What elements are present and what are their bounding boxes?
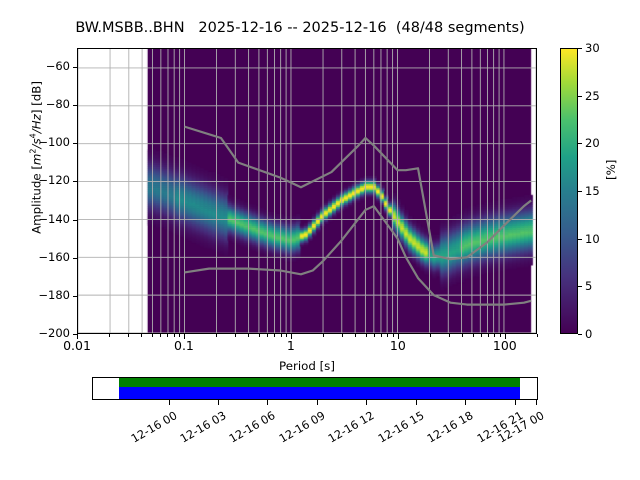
x-tick-minor [109,334,110,337]
timeline-tick-mark [218,400,219,405]
timeline-tick-label: 12-16 15 [370,409,427,449]
colorbar[interactable] [560,48,578,334]
colorbar-tick-label: 10 [585,232,600,246]
timeline-tick-label: 12-16 09 [271,409,328,449]
x-tick-minor [462,334,463,337]
x-tick-minor [355,334,356,337]
colorbar-tick-mark [578,286,582,287]
timeline-tick-mark [366,400,367,405]
page-title: BW.MSBB..BHN 2025-12-16 -- 2025-12-16 (4… [0,20,600,36]
y-tick-mark [73,67,77,68]
timeline-tick-label: 12-16 12 [320,409,377,449]
colorbar-tick-mark [578,143,582,144]
x-tick-minor [152,334,153,337]
figure-canvas: BW.MSBB..BHN 2025-12-16 -- 2025-12-16 (4… [0,0,640,480]
x-tick-minor [160,334,161,337]
colorbar-tick-label: 20 [585,136,600,150]
colorbar-tick-mark [578,239,582,240]
x-tick-label: 0.01 [63,338,91,353]
colorbar-tick-label: 5 [585,279,592,293]
x-tick-minor [481,334,482,337]
y-tick-mark [73,296,77,297]
colorbar-tick-label: 30 [585,41,600,55]
x-tick-minor [473,334,474,337]
x-tick-minor [500,334,501,337]
ppsd-heatmap [78,49,536,333]
y-tick-label: −140 [20,212,70,226]
colorbar-tick-mark [578,334,582,335]
colorbar-tick-label: 15 [585,184,600,198]
timeline-tick-mark [169,400,170,405]
colorbar-tick-mark [578,191,582,192]
y-tick-label: −180 [20,288,70,302]
y-tick-mark [73,220,77,221]
x-tick-minor [430,334,431,337]
y-tick-label: −160 [20,250,70,264]
timeline-tick-mark [317,400,318,405]
x-tick-minor [248,334,249,337]
x-tick-minor [274,334,275,337]
colorbar-tick-mark [578,48,582,49]
coverage-band-green [119,378,520,387]
timeline-tick-label: 12-16 03 [172,409,229,449]
x-tick-minor [366,334,367,337]
y-tick-mark [73,334,77,335]
y-tick-label: −60 [20,59,70,73]
x-tick-label: 0.1 [174,338,194,353]
x-tick-minor [393,334,394,337]
x-tick-minor [381,334,382,337]
timeline-tick-mark [267,400,268,405]
x-tick-minor [449,334,450,337]
y-tick-label: −80 [20,97,70,111]
x-tick-minor [374,334,375,337]
y-tick-mark [73,105,77,106]
x-tick-label: 1 [287,338,295,353]
x-tick-minor [259,334,260,337]
y-tick-label: −120 [20,173,70,187]
timeline-tick-label: 12-16 00 [123,409,180,449]
x-tick-minor [174,334,175,337]
x-tick-minor [537,334,538,337]
y-tick-mark [73,143,77,144]
y-tick-label: −100 [20,135,70,149]
x-tick-label: 10 [390,338,406,353]
y-tick-mark [73,181,77,182]
y-tick-mark [73,258,77,259]
x-tick-minor [167,334,168,337]
x-tick-minor [488,334,489,337]
x-tick-minor [342,334,343,337]
x-tick-minor [281,334,282,337]
x-tick-minor [179,334,180,337]
colorbar-tick-label: 25 [585,89,600,103]
x-axis-label: Period [s] [77,359,537,373]
y-axis-label: Amplitude [m2/s4/Hz] [dB] [29,7,44,307]
timeline-tick-mark [515,400,516,405]
x-tick-minor [267,334,268,337]
x-tick-minor [323,334,324,337]
x-tick-minor [387,334,388,337]
x-tick-minor [235,334,236,337]
coverage-band-blue [119,387,520,399]
x-tick-minor [128,334,129,337]
timeline-tick-mark [416,400,417,405]
timeline-tick-label: 12-16 06 [221,409,278,449]
timeline-tick-mark [536,400,537,405]
x-tick-minor [216,334,217,337]
data-coverage-timeline[interactable] [92,377,538,400]
x-tick-label: 100 [493,338,517,353]
x-tick-minor [141,334,142,337]
x-tick-minor [286,334,287,337]
colorbar-tick-label: 0 [585,327,592,341]
ppsd-main-axes[interactable] [77,48,537,334]
colorbar-tick-mark [578,96,582,97]
x-tick-minor [494,334,495,337]
colorbar-label: [%] [604,160,618,180]
timeline-tick-mark [465,400,466,405]
timeline-tick-label: 12-16 18 [419,409,476,449]
